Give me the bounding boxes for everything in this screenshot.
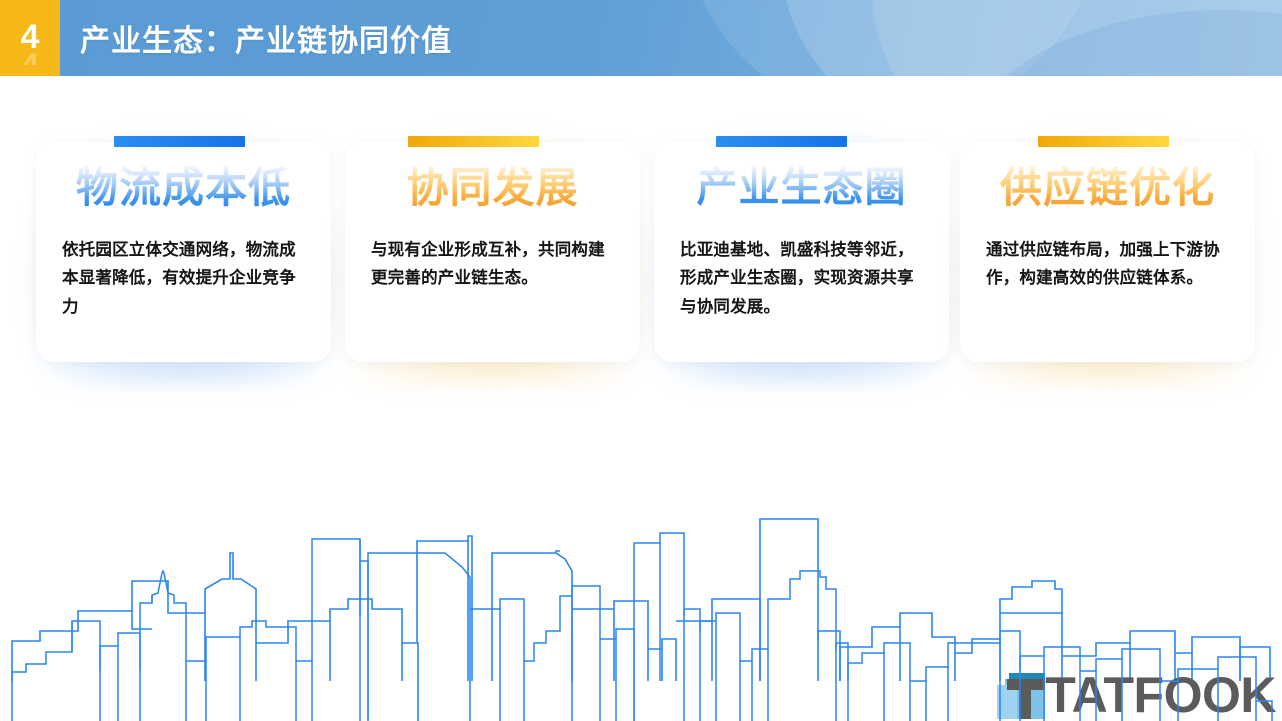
slide-number-badge: 4 4 (0, 0, 60, 76)
card-title: 物流成本低 (36, 166, 331, 210)
card-surface[interactable]: 物流成本低 依托园区立体交通网络，物流成本显著降低，有效提升企业竞争力 (36, 142, 331, 362)
card-body-text: 通过供应链布局，加强上下游协作，构建高效的供应链体系。 (986, 236, 1234, 293)
card-accent-bar (716, 136, 847, 147)
card-surface[interactable]: 产业生态圈 比亚迪基地、凯盛科技等邻近，形成产业生态圈，实现资源共享与协同发展。 (654, 142, 949, 362)
card-surface[interactable]: 协同发展 与现有企业形成互补，共同构建更完善的产业链生态。 (345, 142, 640, 362)
card-body-text: 依托园区立体交通网络，物流成本显著降低，有效提升企业竞争力 (62, 236, 310, 321)
card-title: 产业生态圈 (654, 166, 949, 209)
card-title: 协同发展 (345, 166, 640, 210)
tatfook-mark-icon (997, 669, 1049, 719)
card-accent-bar (114, 136, 245, 147)
slide-header: 4 4 产业生态：产业链协同价值 (0, 0, 1282, 76)
slide-number-reflection: 4 (21, 49, 40, 65)
brand-name: TATFOOK (1045, 672, 1276, 720)
brand-logo: TATFOOK (997, 653, 1276, 719)
feature-card[interactable]: 物流成本低 依托园区立体交通网络，物流成本显著降低，有效提升企业竞争力 (36, 120, 331, 370)
feature-card[interactable]: 协同发展 与现有企业形成互补，共同构建更完善的产业链生态。 (345, 120, 640, 370)
feature-card[interactable]: 产业生态圈 比亚迪基地、凯盛科技等邻近，形成产业生态圈，实现资源共享与协同发展。 (654, 120, 949, 370)
page-title: 产业生态：产业链协同价值 (80, 0, 452, 76)
card-title: 供应链优化 (960, 166, 1255, 210)
card-accent-bar (408, 136, 539, 147)
slide-root: 4 4 产业生态：产业链协同价值 物流成本低 依托园区立体交通网络，物流成本显著… (0, 0, 1282, 721)
card-accent-bar (1038, 136, 1169, 147)
card-body-text: 比亚迪基地、凯盛科技等邻近，形成产业生态圈，实现资源共享与协同发展。 (680, 236, 928, 321)
card-body-text: 与现有企业形成互补，共同构建更完善的产业链生态。 (371, 236, 619, 293)
card-surface[interactable]: 供应链优化 通过供应链布局，加强上下游协作，构建高效的供应链体系。 (960, 142, 1255, 362)
logo-square-front (997, 685, 1017, 719)
logo-t-stem (1019, 679, 1031, 719)
feature-card[interactable]: 供应链优化 通过供应链布局，加强上下游协作，构建高效的供应链体系。 (960, 120, 1255, 370)
feature-card-row: 物流成本低 依托园区立体交通网络，物流成本显著降低，有效提升企业竞争力 协同发展… (0, 120, 1282, 380)
